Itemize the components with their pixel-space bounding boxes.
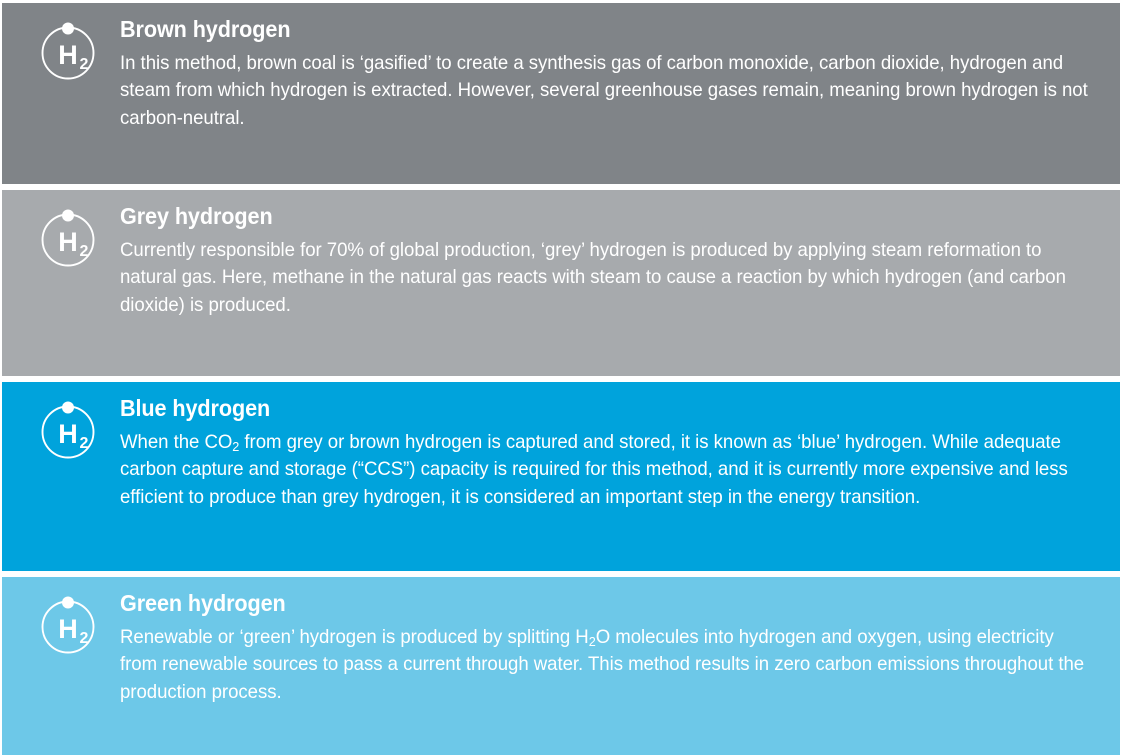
h2-atom-icon: H 2	[37, 21, 99, 83]
text-column: Green hydrogen Renewable or ‘green’ hydr…	[116, 591, 1104, 706]
svg-text:2: 2	[80, 630, 89, 647]
panel-title-blue: Blue hydrogen	[120, 396, 1037, 422]
h2-atom-icon: H 2	[37, 595, 99, 657]
text-column: Brown hydrogen In this method, brown coa…	[116, 17, 1104, 132]
icon-column: H 2	[20, 17, 116, 83]
svg-text:H: H	[58, 614, 78, 644]
panel-title-green: Green hydrogen	[120, 591, 1037, 617]
panel-body-brown: In this method, brown coal is ‘gasified’…	[120, 50, 1094, 133]
panel-blue-hydrogen: H 2 Blue hydrogen When the CO2 from grey…	[2, 382, 1120, 571]
svg-text:2: 2	[80, 243, 89, 260]
svg-text:H: H	[58, 227, 78, 257]
panel-title-grey: Grey hydrogen	[120, 204, 1037, 230]
panel-body-blue: When the CO2 from grey or brown hydrogen…	[120, 429, 1094, 512]
panel-brown-hydrogen: H 2 Brown hydrogen In this method, brown…	[2, 3, 1120, 184]
text-column: Grey hydrogen Currently responsible for …	[116, 204, 1104, 319]
h2-atom-icon: H 2	[37, 400, 99, 462]
svg-text:H: H	[58, 40, 78, 70]
panel-title-brown: Brown hydrogen	[120, 17, 1037, 43]
h2-atom-icon: H 2	[37, 208, 99, 270]
svg-text:2: 2	[80, 435, 89, 452]
svg-text:2: 2	[80, 56, 89, 73]
icon-column: H 2	[20, 591, 116, 657]
svg-text:H: H	[58, 419, 78, 449]
panel-body-green: Renewable or ‘green’ hydrogen is produce…	[120, 624, 1094, 707]
icon-column: H 2	[20, 396, 116, 462]
text-column: Blue hydrogen When the CO2 from grey or …	[116, 396, 1104, 511]
panel-grey-hydrogen: H 2 Grey hydrogen Currently responsible …	[2, 190, 1120, 376]
hydrogen-types-infographic: H 2 Brown hydrogen In this method, brown…	[0, 0, 1124, 755]
panel-green-hydrogen: H 2 Green hydrogen Renewable or ‘green’ …	[2, 577, 1120, 755]
panel-body-grey: Currently responsible for 70% of global …	[120, 237, 1094, 320]
icon-column: H 2	[20, 204, 116, 270]
